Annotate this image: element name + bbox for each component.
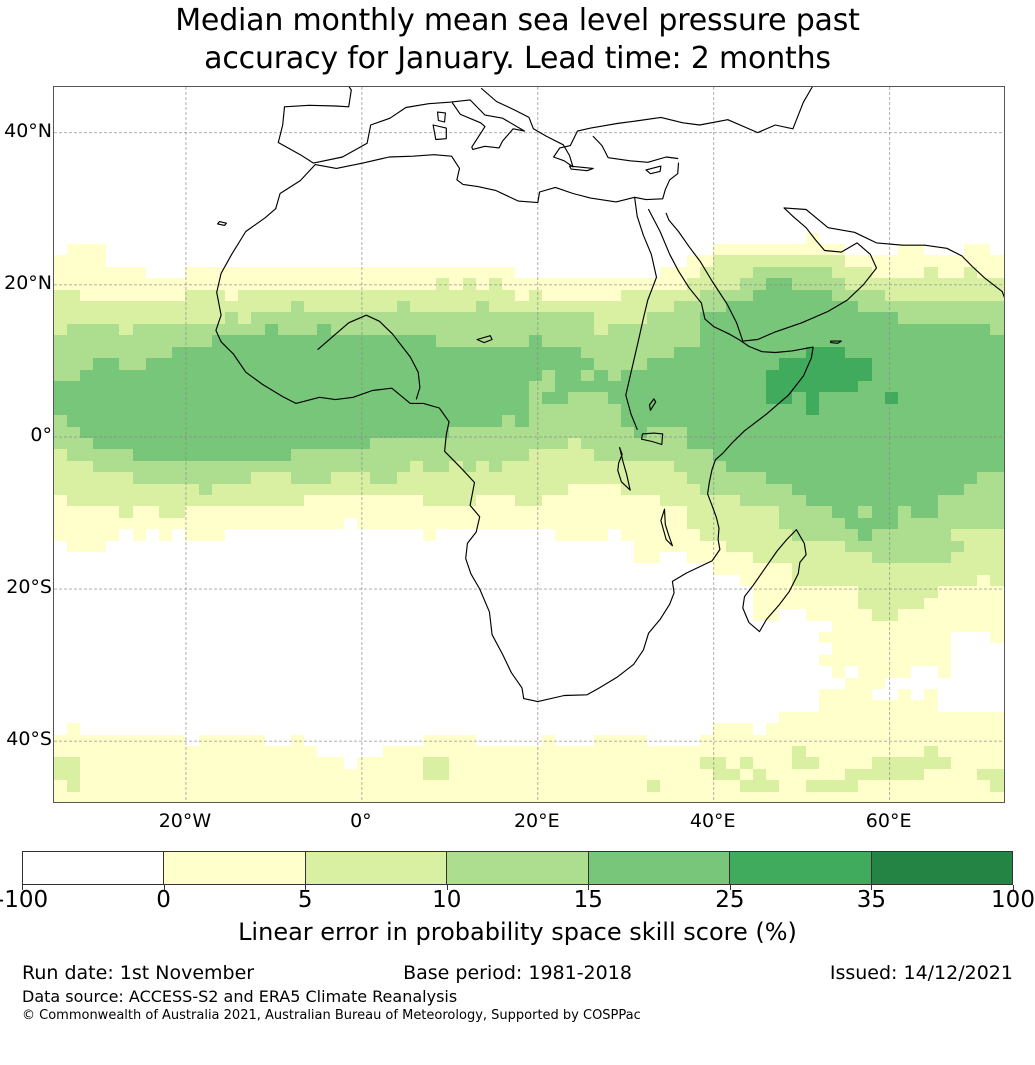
colorbar-band-4: [589, 852, 730, 884]
footer-data-source: Data source: ACCESS-S2 and ERA5 Climate …: [22, 987, 457, 1007]
x-axis-tick-20w: 20°W: [125, 810, 245, 832]
colorbar-tickmark-6: [871, 885, 872, 890]
coastline-segment-15: [477, 336, 492, 343]
footer-copyright: © Commonwealth of Australia 2021, Austra…: [22, 1007, 641, 1024]
colorbar-label: Linear error in probability space skill …: [0, 917, 1035, 947]
colorbar-tickmark-7: [1013, 885, 1014, 890]
coastline-segment-13: [642, 433, 663, 444]
coastline-segment-3: [278, 100, 524, 163]
coastline-segment-12: [661, 509, 673, 546]
colorbar-band-1: [164, 852, 305, 884]
colorbar-tick-0: 0: [94, 886, 234, 914]
coastline-segment-7: [743, 208, 877, 341]
coastline-segment-14: [650, 399, 656, 410]
x-axis-tick-0: 0°: [301, 810, 421, 832]
map-plot-area: [53, 86, 1005, 803]
colorbar-band-0: [23, 852, 164, 884]
coastline-segment-10: [666, 213, 743, 341]
coastline-segment-1: [216, 209, 813, 702]
y-axis-tick-20s: 20°S: [0, 578, 48, 597]
colorbar-band-6: [872, 852, 1012, 884]
colorbar: [22, 851, 1013, 885]
coastline-segment-9: [1002, 292, 1004, 376]
colorbar-tick-15: 15: [518, 886, 658, 914]
page-title: Median monthly mean sea level pressure p…: [0, 2, 1035, 78]
colorbar-tick-10: 10: [377, 886, 517, 914]
x-axis-tick-60e: 60°E: [829, 810, 949, 832]
colorbar-tickmark-1: [164, 885, 165, 890]
coastline-segment-23: [831, 341, 842, 343]
x-axis-tick-40e: 40°E: [653, 810, 773, 832]
colorbar-band-5: [730, 852, 871, 884]
colorbar-tickmark-3: [447, 885, 448, 890]
coastline-segment-16: [743, 530, 806, 632]
coastline-segment-5: [593, 136, 678, 162]
y-axis-tick-0: 0°: [0, 426, 48, 445]
coastline-segment-6: [728, 87, 812, 133]
coastline-segment-19: [570, 166, 594, 171]
coastline-and-grid-overlay: [54, 87, 1004, 802]
colorbar-band-3: [447, 852, 588, 884]
x-axis-tick-20e: 20°E: [477, 810, 597, 832]
y-axis-tick-40n: 40°N: [0, 122, 48, 141]
coastline-segment-8: [784, 208, 1002, 292]
colorbar-tickmark-2: [305, 885, 306, 890]
y-axis-tick-20n: 20°N: [0, 274, 48, 293]
colorbar-tickmark-4: [588, 885, 589, 890]
colorbar-tick-100: 100: [943, 886, 1035, 914]
coastline-segment-22: [218, 222, 227, 226]
coastline-segment-0: [276, 155, 679, 209]
colorbar-tick-neg100: -100: [0, 886, 92, 914]
coastline-segment-25: [318, 315, 420, 399]
footer-issued-date: Issued: 14/12/2021: [830, 961, 1013, 985]
colorbar-tickmark-0: [22, 885, 23, 890]
coastline-segment-18: [646, 166, 661, 174]
coastline-segment-2: [278, 87, 404, 142]
y-axis-tick-40s: 40°S: [0, 730, 48, 749]
coastlines: [216, 87, 1004, 702]
colorbar-band-2: [306, 852, 447, 884]
colorbar-tickmark-5: [730, 885, 731, 890]
colorbar-tick-35: 35: [801, 886, 941, 914]
colorbar-tick-5: 5: [235, 886, 375, 914]
coastline-segment-11: [618, 448, 630, 491]
coastline-segment-24: [626, 197, 657, 429]
footer-metadata-row: Run date: 1st November Base period: 1981…: [0, 961, 1035, 985]
colorbar-tick-25: 25: [660, 886, 800, 914]
coastline-segment-21: [438, 112, 446, 122]
map-gridlines: [54, 87, 1004, 802]
